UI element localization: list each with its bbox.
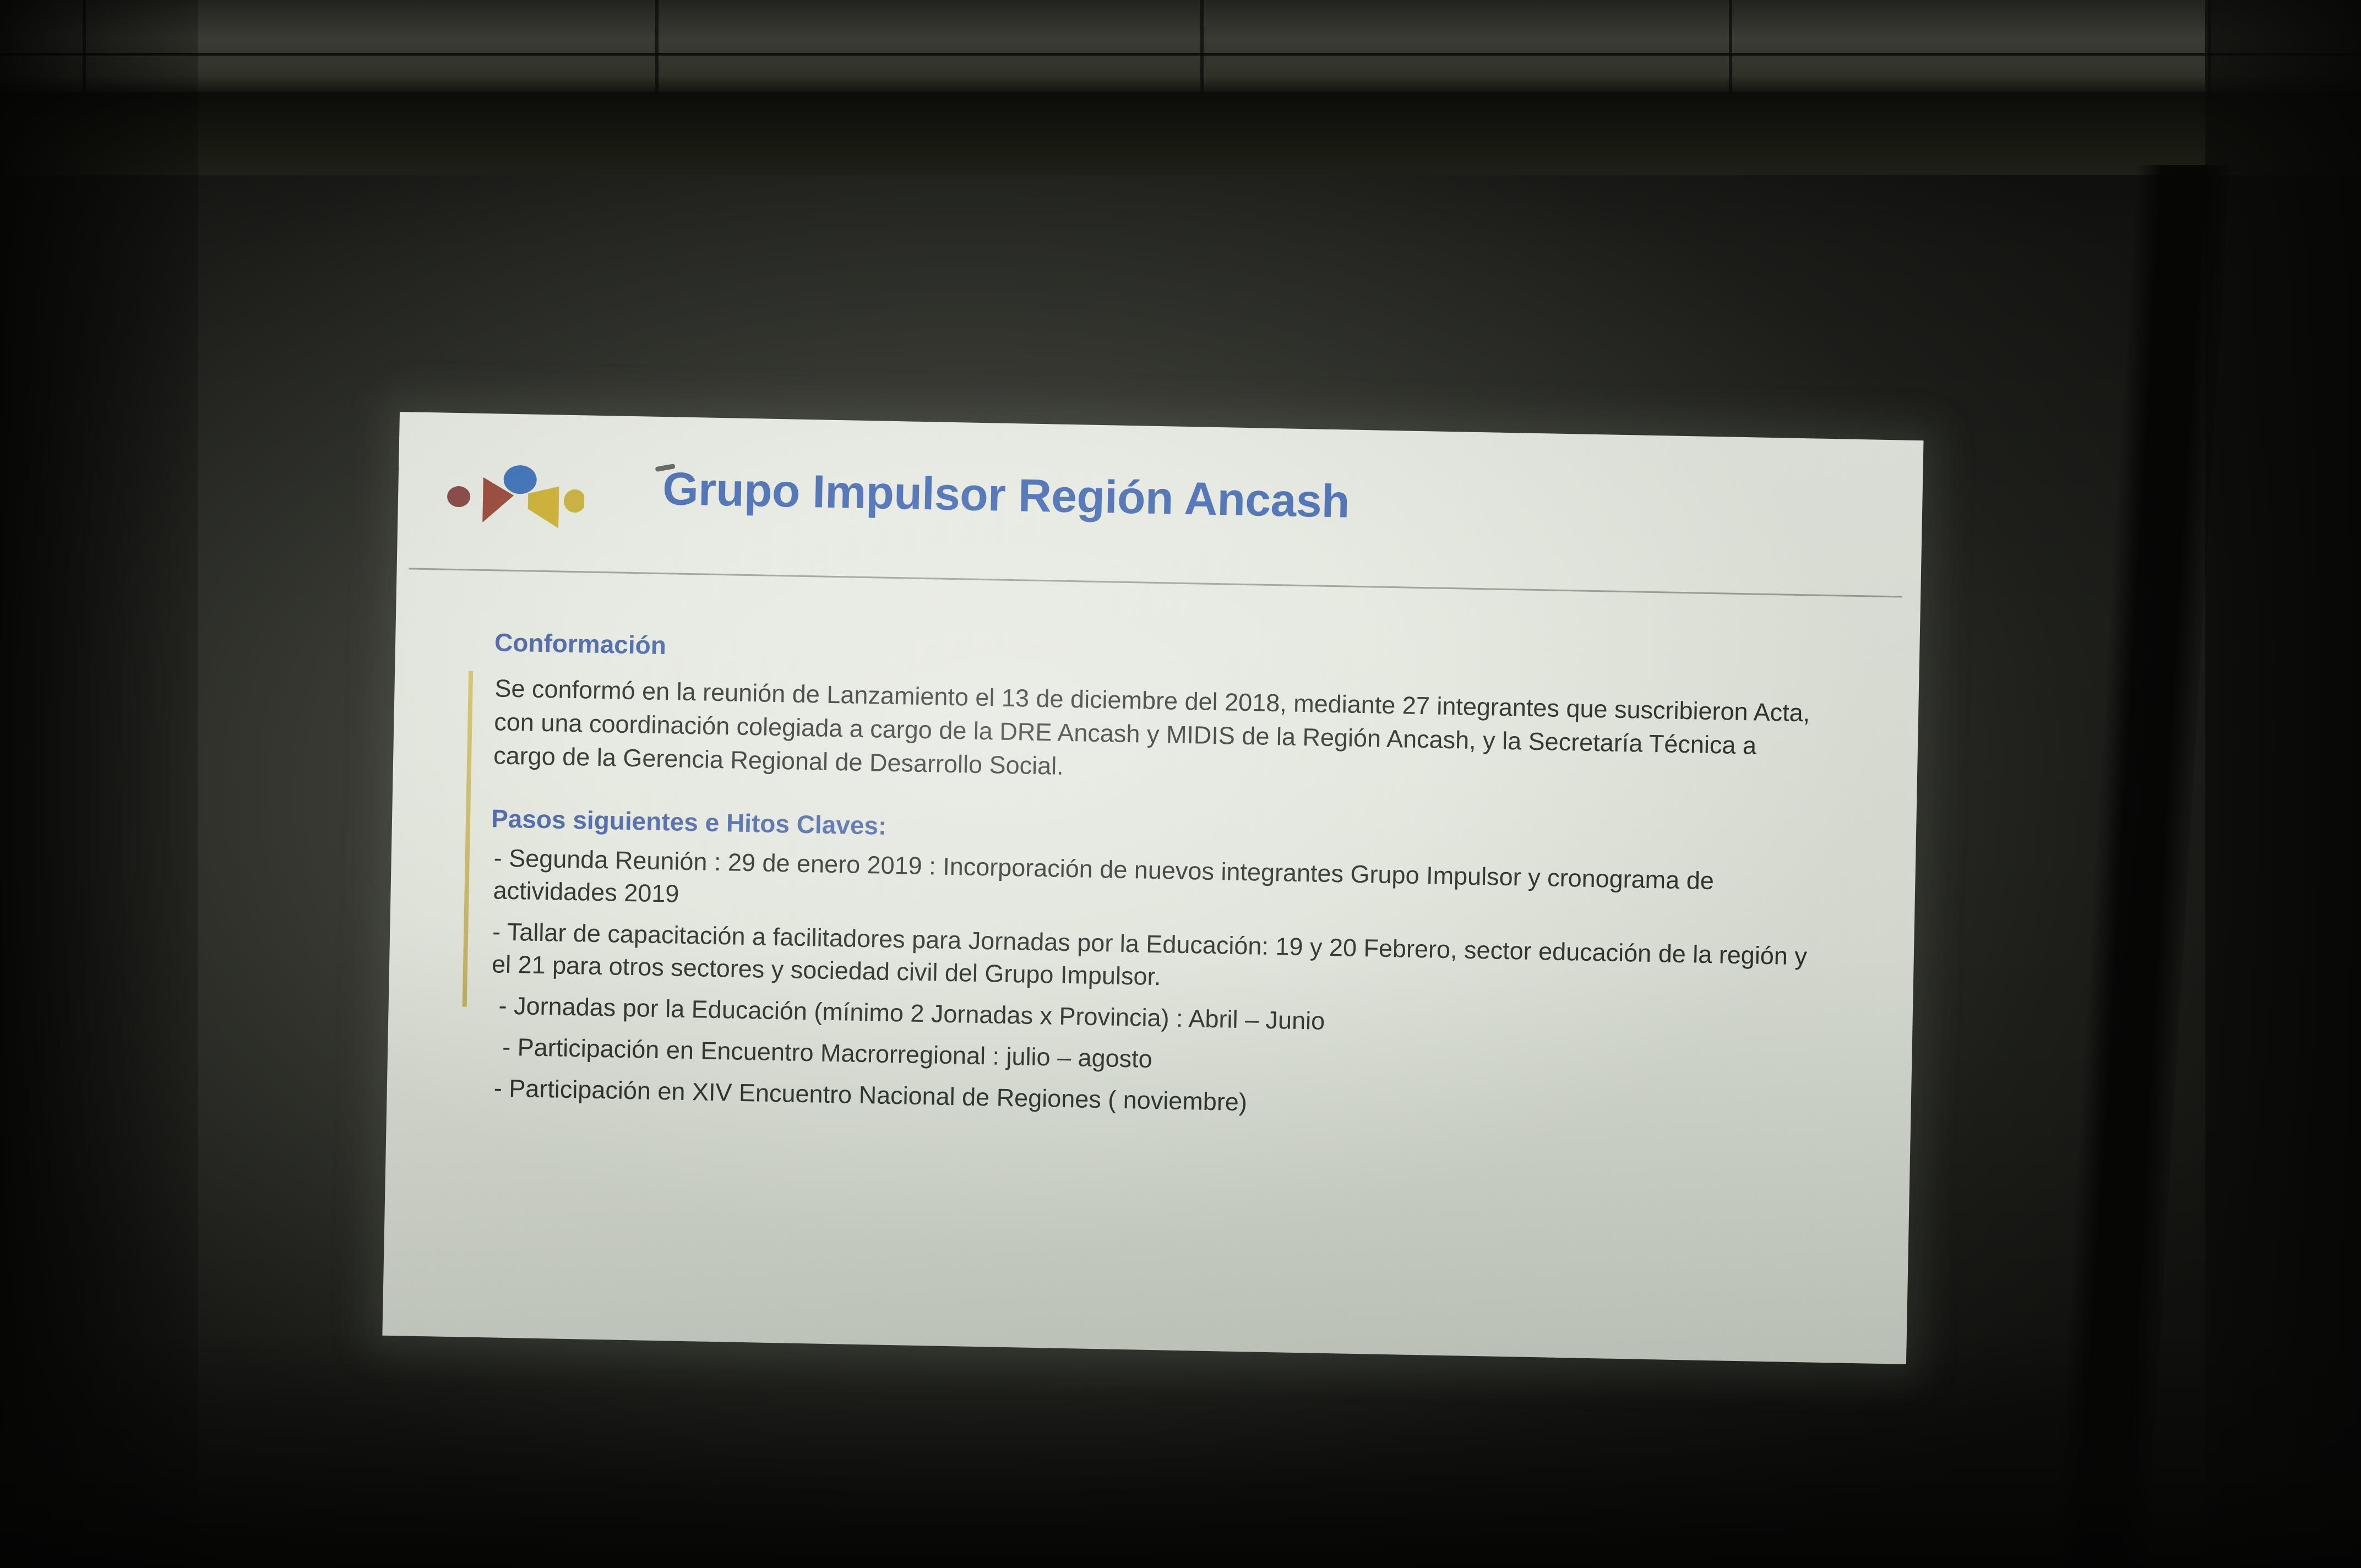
conformacion-paragraph: Se conformó en la reunión de Lanzamiento… (493, 671, 1816, 797)
pasos-bullet-list: - Segunda Reunión : 29 de enero 2019 : I… (489, 841, 1826, 1138)
slide-body: Conformación Se conformó en la reunión d… (382, 571, 1921, 1364)
ceiling-shadow (0, 92, 2361, 175)
section-heading-conformacion: Conformación (494, 627, 667, 660)
grupo-impulsor-logo (446, 460, 585, 529)
gold-accent-bar (463, 671, 473, 1006)
slide-canvas: Grupo Impulsor Región Ancash Conformació… (382, 412, 1923, 1364)
ceiling-grid-rib (1200, 0, 1204, 99)
projected-slide: Grupo Impulsor Región Ancash Conformació… (382, 412, 1923, 1364)
projection-room-scene: Grupo Impulsor Región Ancash Conformació… (0, 0, 2361, 1568)
ceiling-panel (0, 0, 2361, 96)
list-item: - Tallar de capacitación a facilitadores… (492, 915, 1825, 1005)
slide-header: Grupo Impulsor Región Ancash (397, 412, 1924, 600)
list-item: - Segunda Reunión : 29 de enero 2019 : I… (493, 841, 1826, 932)
ceiling-grid-rib (655, 0, 659, 99)
floor-shadow (0, 1331, 2361, 1568)
slide-title: Grupo Impulsor Región Ancash (662, 462, 1350, 528)
section-heading-pasos-siguientes: Pasos siguientes e Hitos Claves: (491, 803, 887, 841)
ceiling-grid-rib (1729, 0, 1732, 99)
ceiling-grid-line (0, 53, 2361, 56)
